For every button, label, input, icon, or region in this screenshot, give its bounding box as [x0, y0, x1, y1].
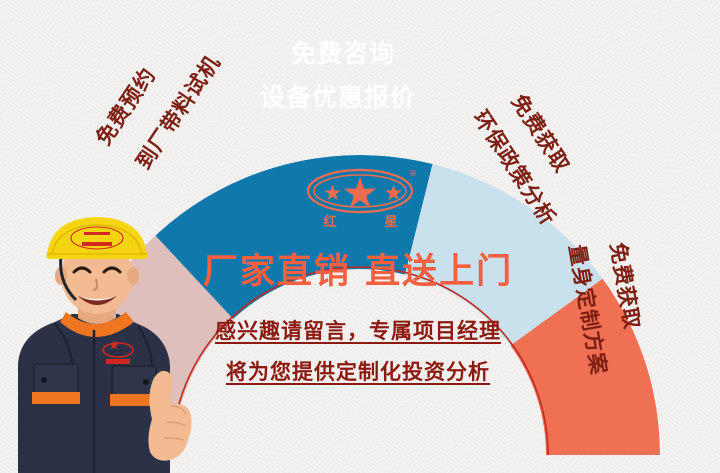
- promo-banner: 免费预约 到厂带料试机 免费咨询 设备优惠报价 免费获取 环保政策分析 免费获取…: [0, 0, 720, 473]
- hard-hat-icon: [46, 217, 148, 259]
- hongxing-logo: ® 红 星: [303, 166, 423, 232]
- subline-1: 感兴趣请留言，专属项目经理: [178, 315, 538, 345]
- logo-text-right: 星: [384, 215, 397, 230]
- subline-2: 将为您提供定制化投资分析: [178, 356, 538, 386]
- headline: 厂家直销 直送上门: [178, 243, 538, 294]
- registered-mark: ®: [409, 169, 417, 178]
- worker-photo: [0, 214, 196, 473]
- thumbs-up-hand: [148, 371, 191, 461]
- logo-text-left: 红: [323, 214, 336, 230]
